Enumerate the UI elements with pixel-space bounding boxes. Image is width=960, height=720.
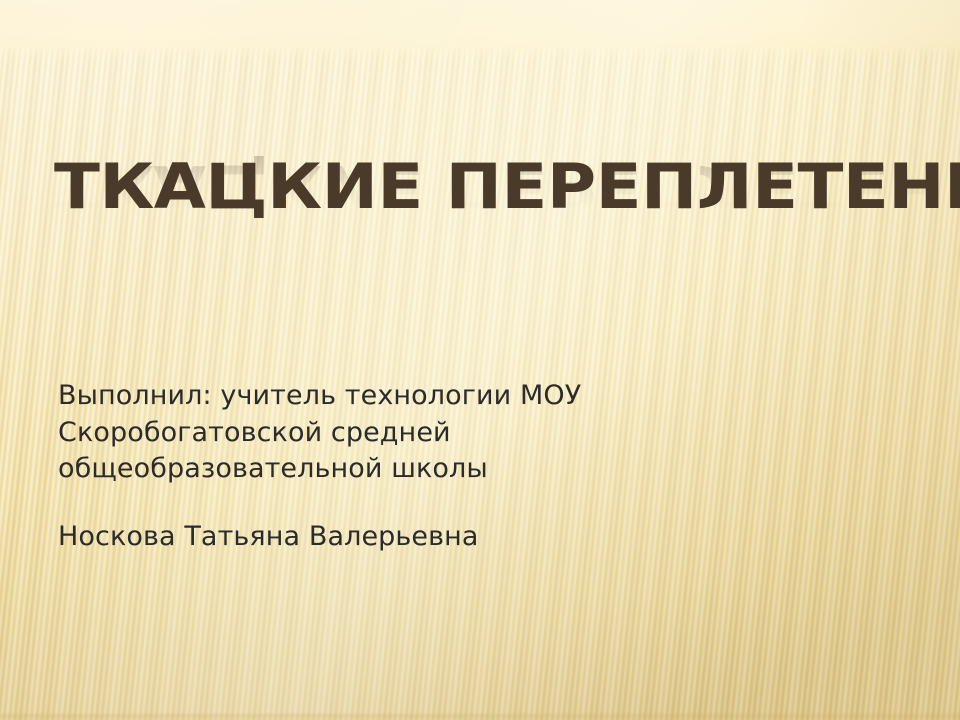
slide-title-block: ТКАЦКИЕ ПЕРЕПЛЕТЕНИЯ ТКАЦКИЕ ПЕРЕПЛЕТЕНИ…: [54, 152, 914, 272]
slide-subtitle-block: Выполнил: учитель технологии МОУ Скоробо…: [58, 378, 678, 555]
slide-subtitle-name-line: Носкова Татьяна Валерьевна: [58, 519, 678, 556]
slide-title: ТКАЦКИЕ ПЕРЕПЛЕТЕНИЯ: [54, 152, 960, 222]
slide-subtitle-author-line: Выполнил: учитель технологии МОУ Скоробо…: [58, 378, 678, 488]
presentation-slide: ТКАЦКИЕ ПЕРЕПЛЕТЕНИЯ ТКАЦКИЕ ПЕРЕПЛЕТЕНИ…: [0, 0, 960, 720]
slide-content: ТКАЦКИЕ ПЕРЕПЛЕТЕНИЯ ТКАЦКИЕ ПЕРЕПЛЕТЕНИ…: [0, 0, 960, 720]
